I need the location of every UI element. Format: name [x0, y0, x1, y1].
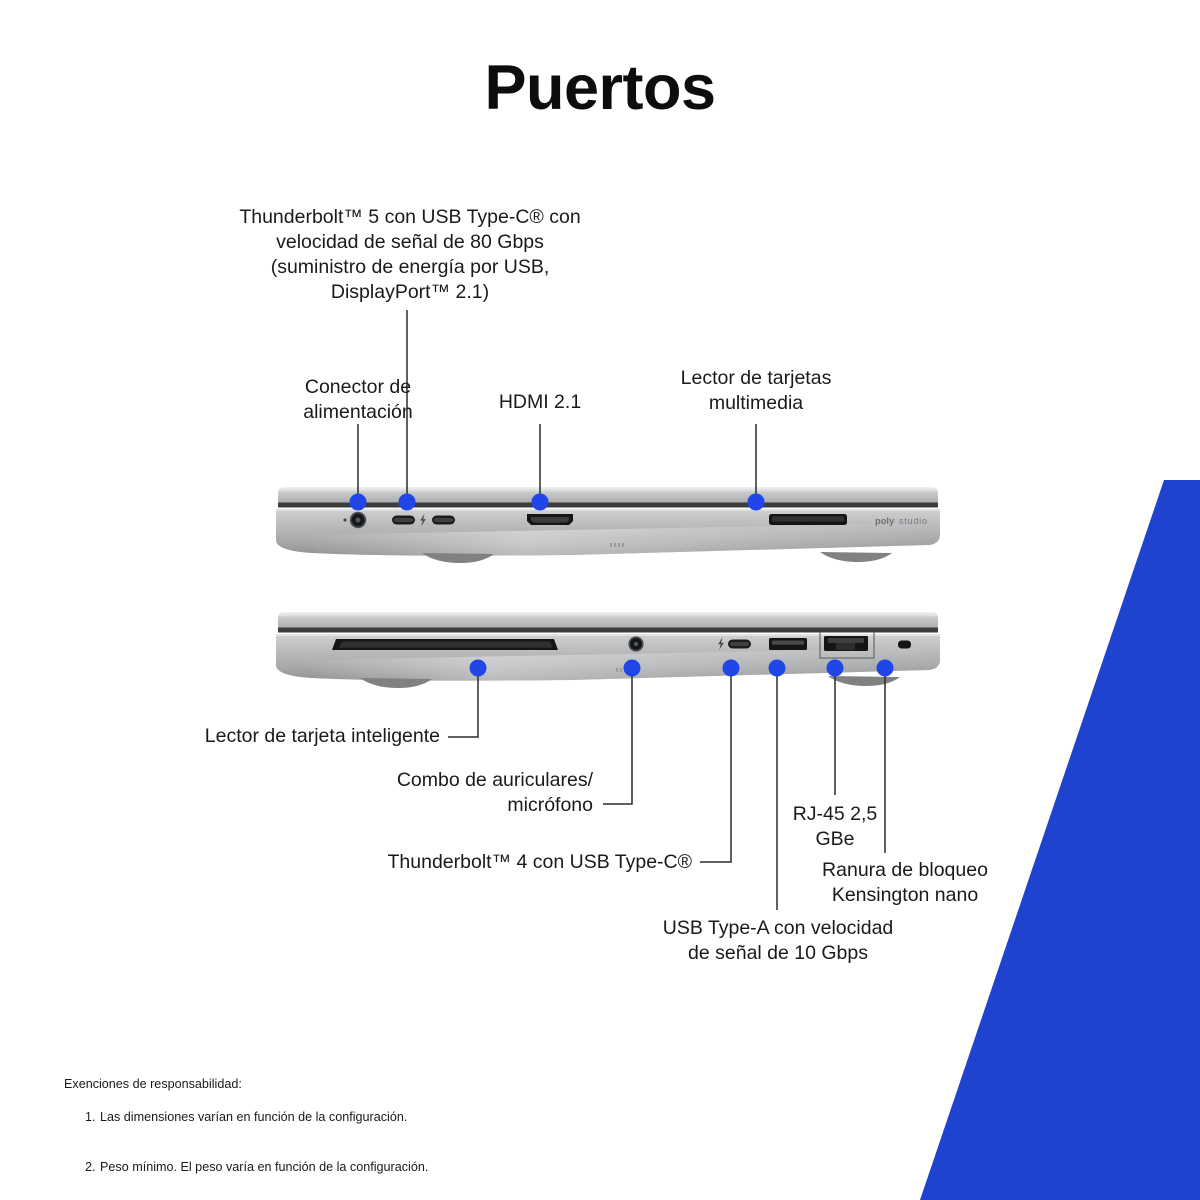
callout-label-power-connector: Conector de alimentación: [248, 375, 468, 425]
page-title: Puertos: [0, 52, 1200, 124]
svg-text:studio: studio: [899, 516, 928, 526]
laptop-top-side-view: poly studio: [272, 483, 944, 578]
leader-lines: [0, 0, 1200, 1200]
callout-label-media-card-reader: Lector de tarjetas multimedia: [646, 366, 866, 416]
footnotes: Exenciones de responsabilidad: 1.Las dim…: [64, 1076, 428, 1192]
svg-text:poly: poly: [875, 516, 895, 526]
callout-label-usb-type-a: USB Type-A con velocidad de señal de 10 …: [645, 916, 911, 966]
blue-corner-wedge: [0, 0, 1200, 1200]
callout-label-smart-card-reader: Lector de tarjeta inteligente: [118, 724, 440, 749]
footnote-item: 2.Peso mínimo. El peso varía en función …: [64, 1142, 428, 1192]
footnote-text: Las dimensiones varían en función de la …: [100, 1110, 407, 1124]
footnote-number: 1.: [85, 1109, 100, 1126]
footnote-item: 1.Las dimensiones varían en función de l…: [64, 1093, 428, 1143]
laptop-bottom-side-view: [272, 608, 944, 703]
callout-label-hdmi: HDMI 2.1: [450, 390, 630, 415]
callout-label-thunderbolt-5: Thunderbolt™ 5 con USB Type-C® con veloc…: [230, 205, 590, 305]
footnote-number: 2.: [85, 1159, 100, 1176]
footnotes-heading: Exenciones de responsabilidad:: [64, 1076, 428, 1093]
footnote-text: Peso mínimo. El peso varía en función de…: [100, 1160, 428, 1174]
callout-label-rj45: RJ-45 2,5 GBe: [760, 802, 910, 852]
callout-label-headphone-mic-combo: Combo de auriculares/ micrófono: [295, 768, 593, 818]
callout-label-thunderbolt-4: Thunderbolt™ 4 con USB Type-C®: [330, 850, 692, 875]
callout-dots: [0, 0, 1200, 1200]
callout-label-kensington-lock: Ranura de bloqueo Kensington nano: [790, 858, 1020, 908]
ports-infographic: Puertos: [0, 0, 1200, 1200]
